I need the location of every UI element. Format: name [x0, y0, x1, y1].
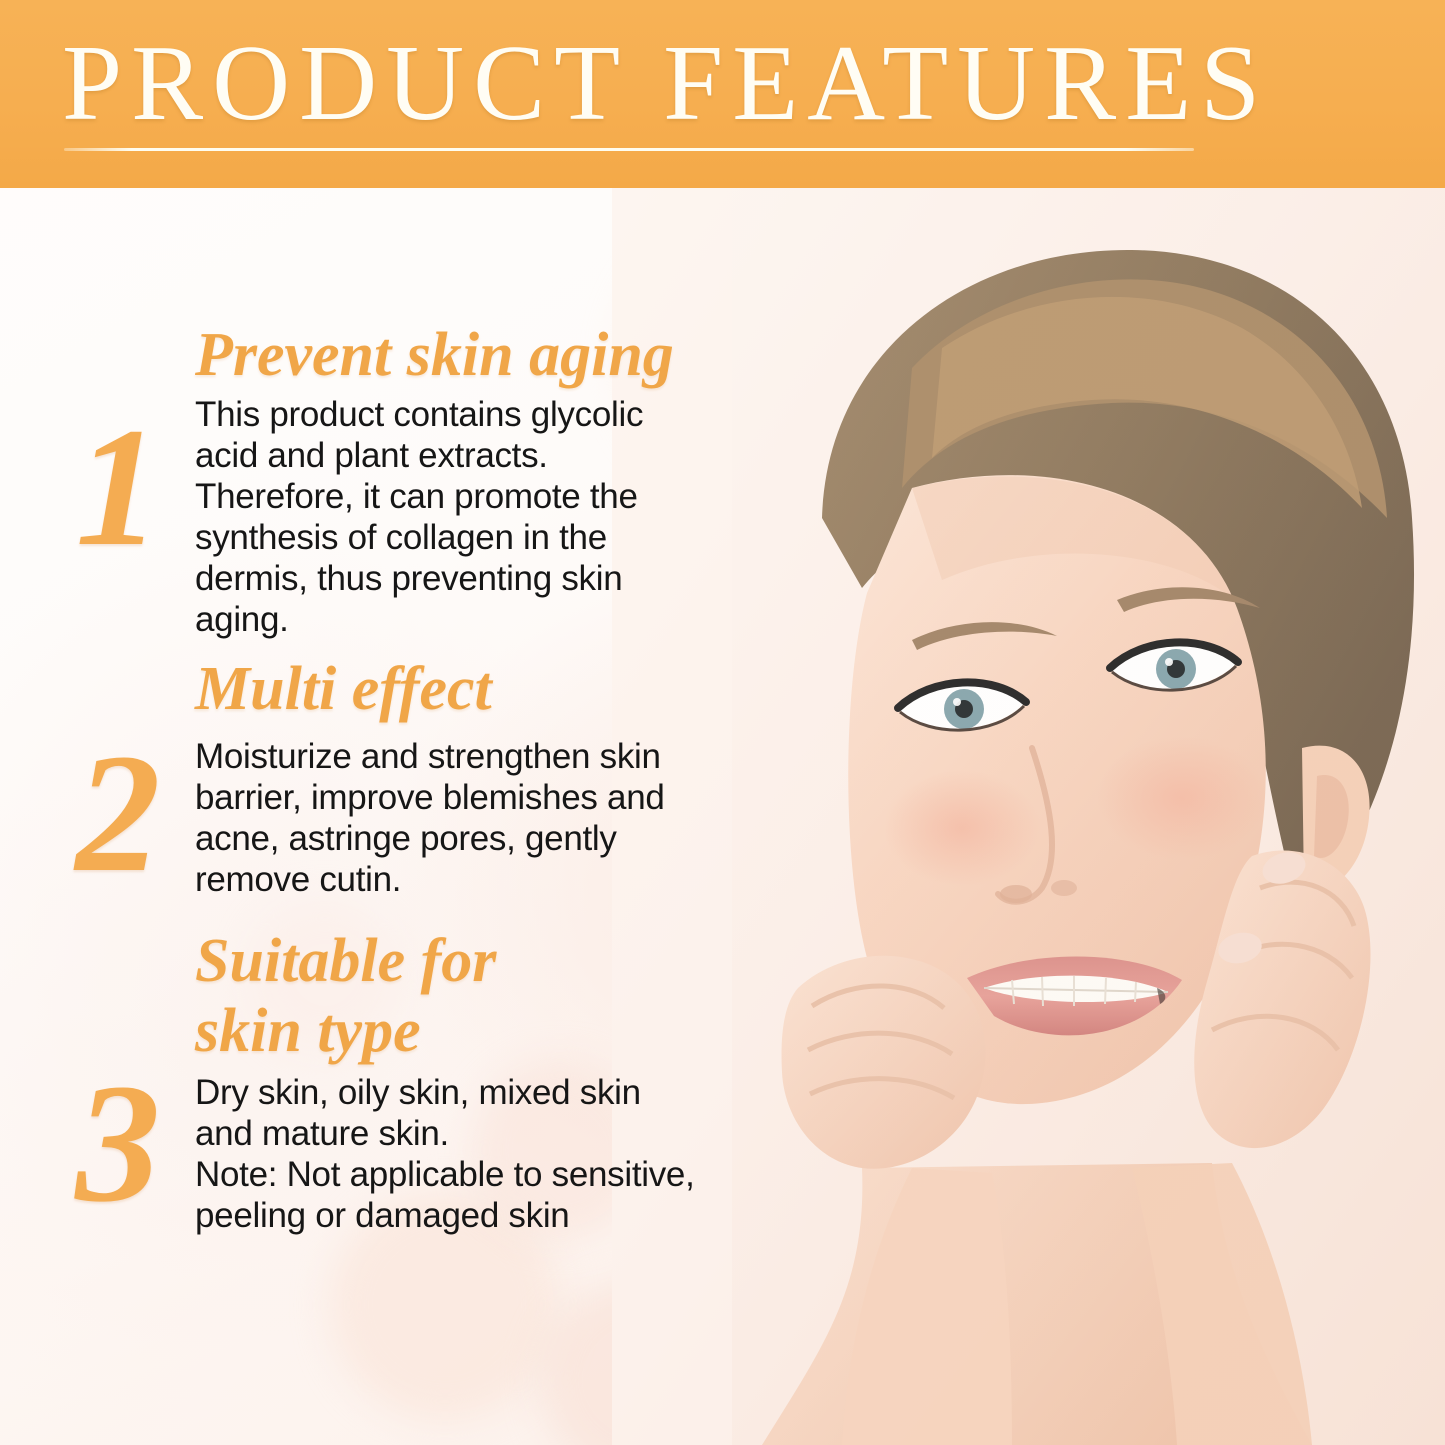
feature-number-2: 2: [58, 728, 178, 898]
feature-heading-3: Suitable for skin type: [195, 926, 700, 1066]
feature-text-1: This product contains glycolic acid and …: [195, 394, 700, 640]
header-band: PRODUCT FEATURES: [0, 0, 1445, 188]
feature-content-3: Suitable for skin type Dry skin, oily sk…: [195, 926, 700, 1236]
feature-item-2: 2 Multi effect Moisturize and strengthen…: [0, 654, 700, 904]
model-photo: [612, 188, 1445, 1445]
feature-content-2: Multi effect Moisturize and strengthen s…: [195, 654, 700, 900]
product-features-infographic: PRODUCT FEATURES 1 Prevent skin aging Th…: [0, 0, 1445, 1445]
model-photo-illustration: [612, 188, 1445, 1445]
page-title: PRODUCT FEATURES: [62, 22, 1269, 146]
feature-heading-2: Multi effect: [195, 654, 700, 724]
feature-heading-1: Prevent skin aging: [195, 320, 700, 390]
feature-text-2: Moisturize and strengthen skin barrier, …: [195, 736, 700, 900]
feature-item-1: 1 Prevent skin aging This product contai…: [0, 320, 700, 620]
feature-number-3: 3: [58, 1058, 178, 1228]
feature-item-3: 3 Suitable for skin type Dry skin, oily …: [0, 926, 700, 1256]
feature-number-1: 1: [58, 402, 178, 572]
feature-content-1: Prevent skin aging This product contains…: [195, 320, 700, 640]
title-underline: [64, 148, 1194, 151]
feature-text-3: Dry skin, oily skin, mixed skin and matu…: [195, 1072, 700, 1236]
